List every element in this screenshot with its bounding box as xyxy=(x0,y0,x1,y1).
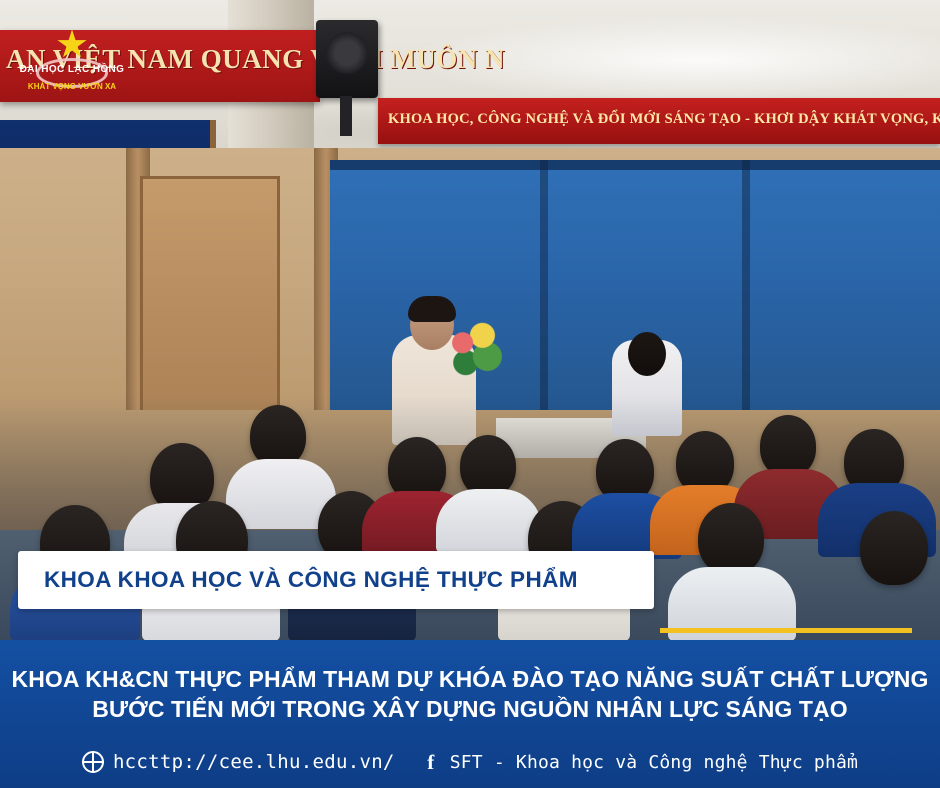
facebook-group[interactable]: f SFT - Khoa học và Công nghệ Thực phẩm xyxy=(421,751,858,773)
audience-head xyxy=(460,435,516,497)
poster-image: AN VIỆT NAM QUANG VINH MUÔN N ★ ĐẠI HỌC … xyxy=(0,0,940,788)
event-photo: AN VIỆT NAM QUANG VINH MUÔN N ★ ĐẠI HỌC … xyxy=(0,0,940,640)
headline-line-1: KHOA KH&CN THỰC PHẨM THAM DỰ KHÓA ĐÀO TẠ… xyxy=(0,664,940,694)
accent-underline xyxy=(660,628,912,633)
red-banner-right-text: KHOA HỌC, CÔNG NGHỆ VÀ ĐỔI MỚI SÁNG TẠO … xyxy=(388,111,940,128)
facebook-icon: f xyxy=(421,751,441,773)
faculty-name-text: KHOA KHOA HỌC VÀ CÔNG NGHỆ THỰC PHẨM xyxy=(44,567,578,593)
facebook-page-name[interactable]: SFT - Khoa học và Công nghệ Thực phẩm xyxy=(450,752,858,773)
audience-head xyxy=(860,511,928,585)
headline-line-2: BƯỚC TIẾN MỚI TRONG XÂY DỰNG NGUỒN NHÂN … xyxy=(0,694,940,724)
blind-divider-2 xyxy=(742,160,750,410)
loudspeaker-mount xyxy=(340,96,352,136)
university-logo: ★ ĐẠI HỌC LẠC HỒNG KHÁT VỌNG VƯƠN XA xyxy=(18,24,126,110)
blind-divider-1 xyxy=(540,160,548,410)
website-group[interactable]: hccttp://cee.lhu.edu.vn/ xyxy=(82,751,395,773)
logo-name: ĐẠI HỌC LẠC HỒNG xyxy=(18,64,126,75)
flower-bouquet xyxy=(444,318,506,380)
red-banner-right: KHOA HỌC, CÔNG NGHỆ VÀ ĐỔI MỚI SÁNG TẠO … xyxy=(378,98,940,144)
audience-head xyxy=(698,503,764,575)
logo-slogan: KHÁT VỌNG VƯƠN XA xyxy=(18,82,126,91)
faculty-name-tab: KHOA KHOA HỌC VÀ CÔNG NGHỆ THỰC PHẨM xyxy=(18,551,654,609)
headline: KHOA KH&CN THỰC PHẨM THAM DỰ KHÓA ĐÀO TẠ… xyxy=(0,664,940,724)
audience-head xyxy=(760,415,816,477)
website-url[interactable]: hccttp://cee.lhu.edu.vn/ xyxy=(113,751,395,773)
footer-contact-row: hccttp://cee.lhu.edu.vn/ f SFT - Khoa họ… xyxy=(0,744,940,780)
globe-icon xyxy=(82,751,104,773)
audience-head xyxy=(250,405,306,467)
audience-body xyxy=(436,489,542,553)
seated-woman-head xyxy=(628,332,666,376)
loudspeaker xyxy=(316,20,378,98)
